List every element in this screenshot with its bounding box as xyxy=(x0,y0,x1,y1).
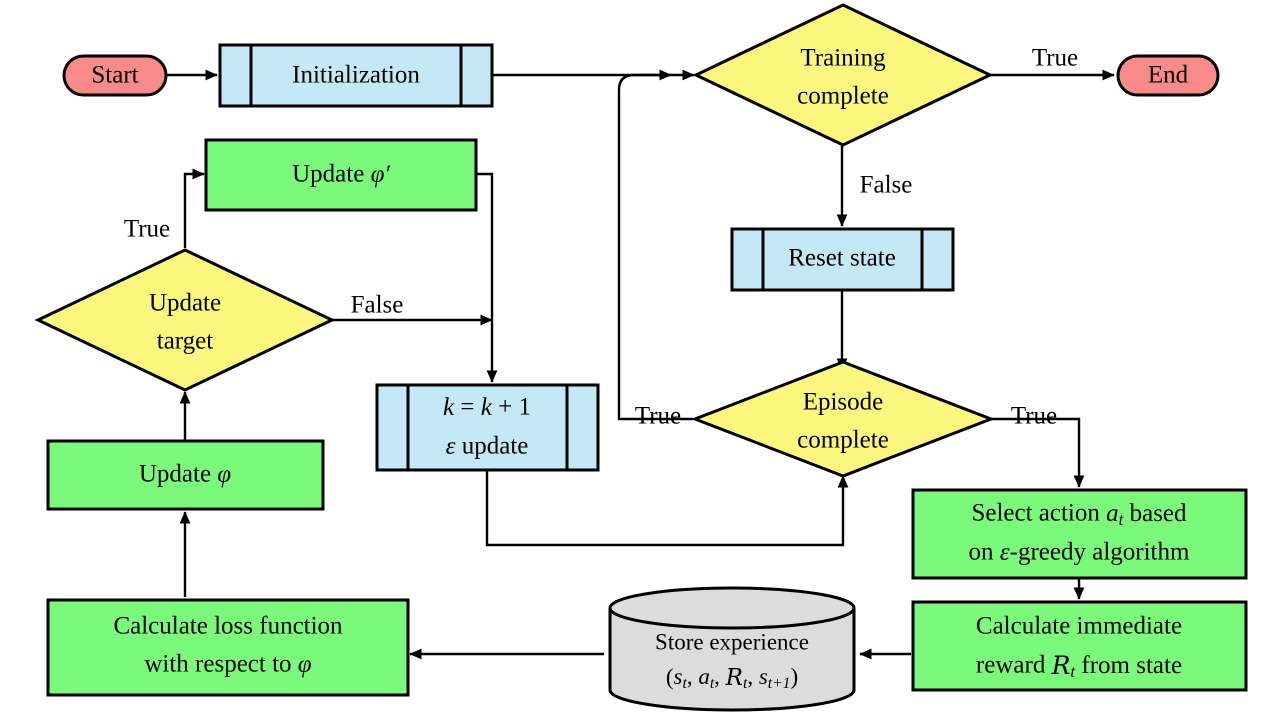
node-update-target-label-line1: Update xyxy=(149,290,221,317)
edge-episode-complete-true-left-to-training-complete xyxy=(619,75,693,419)
edge-k-update-to-episode-complete xyxy=(487,470,843,545)
node-episode-complete[interactable]: Episode complete xyxy=(695,362,991,476)
node-training-complete-label-line1: Training xyxy=(800,45,886,72)
flowchart-canvas: Start Initialization Training complete E… xyxy=(0,0,1280,720)
node-k-update-label-line2: ε update xyxy=(446,433,529,460)
node-select-action[interactable]: Select action at based on ε-greedy algor… xyxy=(913,490,1246,578)
node-initialization[interactable]: Initialization xyxy=(220,45,492,106)
edge-label-training-complete-false: False xyxy=(860,172,913,199)
node-training-complete[interactable]: Training complete xyxy=(696,5,990,145)
node-calculate-reward-label-line1: Calculate immediate xyxy=(976,613,1182,640)
node-update-target[interactable]: Update target xyxy=(38,250,332,390)
node-store-experience[interactable]: Store experience (st, at, Rt, st+1) xyxy=(610,588,854,710)
edge-label-episode-complete-true-right: True xyxy=(1011,403,1057,430)
node-calculate-loss-label-line2: with respect to φ xyxy=(144,651,311,678)
node-k-update[interactable]: k = k + 1 ε update xyxy=(377,385,598,470)
flowchart-svg: Start Initialization Training complete E… xyxy=(0,0,1280,720)
node-start-label: Start xyxy=(91,62,138,89)
node-start[interactable]: Start xyxy=(64,56,166,95)
node-calculate-reward[interactable]: Calculate immediate reward Rt from state xyxy=(913,602,1246,690)
node-select-action-label-line1: Select action at based xyxy=(971,500,1187,529)
node-training-complete-label-line2: complete xyxy=(797,83,889,110)
node-initialization-label: Initialization xyxy=(292,62,420,89)
node-end[interactable]: End xyxy=(1118,56,1218,95)
node-select-action-label-line2: on ε-greedy algorithm xyxy=(969,539,1190,566)
edge-update-phi-prime-to-k-update xyxy=(476,174,492,382)
node-update-phi-prime[interactable]: Update φ′ xyxy=(206,140,476,210)
node-update-phi-prime-label: Update φ′ xyxy=(292,161,390,188)
edge-label-episode-complete-true-left: True xyxy=(635,403,681,430)
edge-update-target-true-to-update-phi-prime xyxy=(185,174,204,248)
node-end-label: End xyxy=(1148,62,1189,89)
node-calculate-loss[interactable]: Calculate loss function with respect to … xyxy=(48,600,408,695)
node-update-phi[interactable]: Update φ xyxy=(48,441,323,509)
node-store-experience-label-line1: Store experience xyxy=(655,629,809,654)
node-reset-state-label: Reset state xyxy=(788,245,896,272)
node-reset-state[interactable]: Reset state xyxy=(732,229,953,290)
edge-label-training-complete-true: True xyxy=(1032,45,1078,72)
node-update-phi-label: Update φ xyxy=(139,461,231,488)
edge-label-update-target-true: True xyxy=(124,216,170,243)
node-episode-complete-label-line2: complete xyxy=(797,427,889,454)
node-episode-complete-label-line1: Episode xyxy=(803,389,884,416)
node-k-update-label-line1: k = k + 1 xyxy=(443,394,531,421)
node-calculate-loss-label-line1: Calculate loss function xyxy=(113,613,343,640)
node-calculate-reward-label-line2: reward Rt from state xyxy=(976,651,1182,681)
edge-label-update-target-false: False xyxy=(351,292,404,319)
node-update-target-label-line2: target xyxy=(157,328,214,355)
